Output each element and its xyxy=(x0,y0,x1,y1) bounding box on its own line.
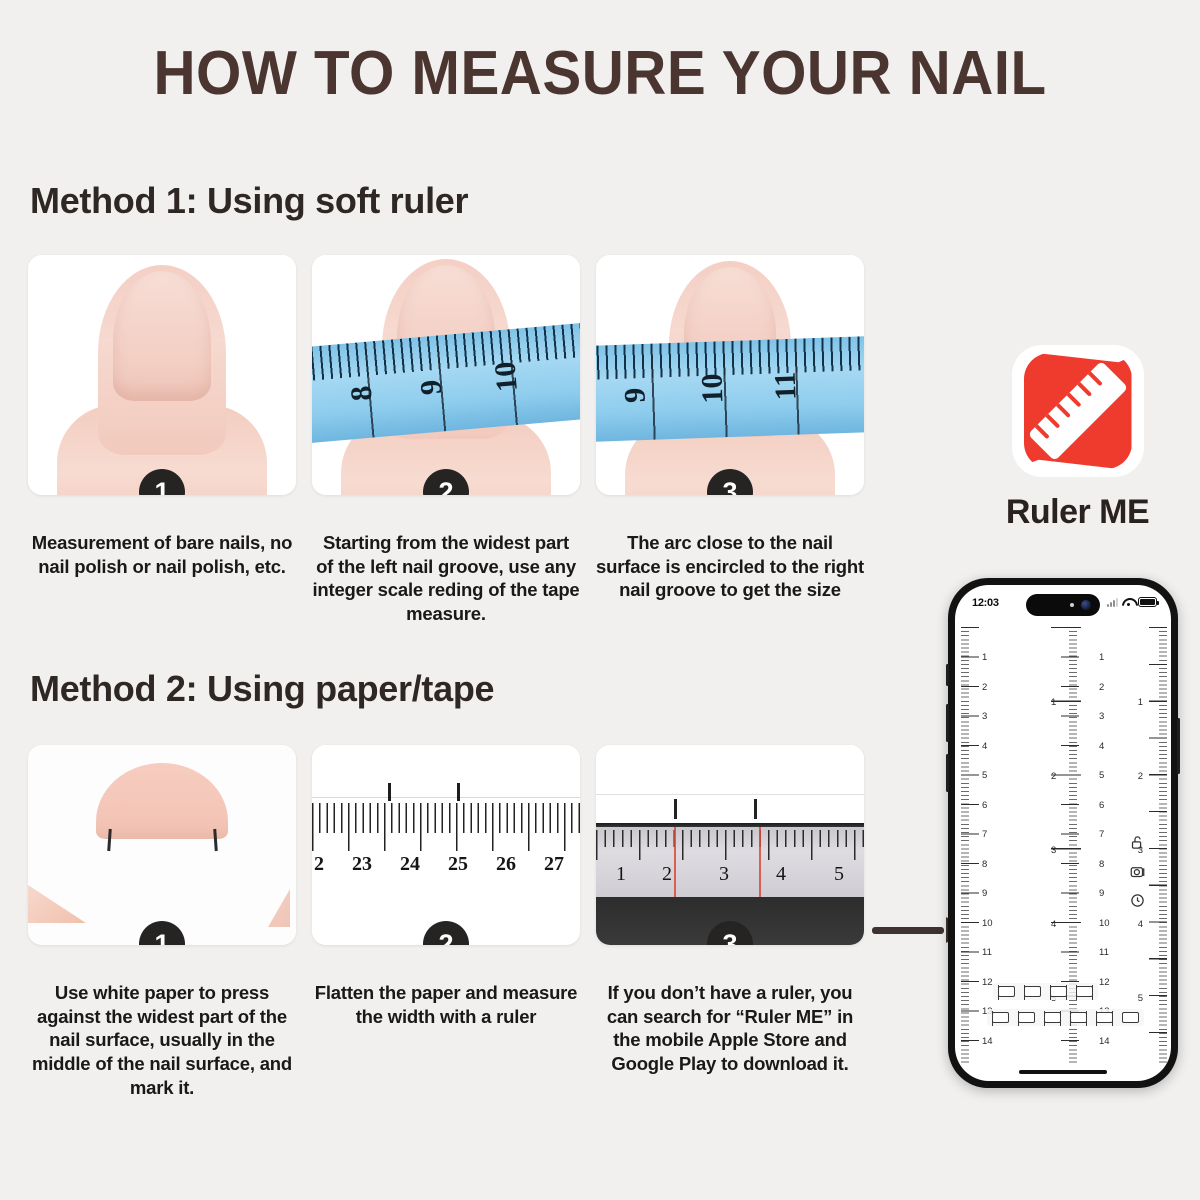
pen-mark-left xyxy=(674,799,677,819)
finger-corner-shape xyxy=(28,885,86,923)
scale-label: 12 xyxy=(982,977,993,988)
scale-label: 7 xyxy=(1099,829,1104,840)
phone-screen[interactable]: 12:03 1 2 3 4 5 6 7 8 9 10 11 xyxy=(955,585,1171,1081)
step-caption: Starting from the widest part of the lef… xyxy=(312,531,580,626)
measurement-chip-row[interactable] xyxy=(993,983,1098,1000)
ruler-labels: 2 23 24 25 26 27 xyxy=(312,853,580,879)
step-card-m1-2: 8 9 10 2 Starting from the widest part o… xyxy=(312,255,580,626)
measurement-chip-row[interactable] xyxy=(987,1009,1144,1026)
step-card-m2-1: 1 Use white paper to press against the w… xyxy=(28,745,296,1099)
phone-tool-strip xyxy=(1130,835,1145,908)
scale-label: 14 xyxy=(1099,1036,1110,1047)
scale-label: 8 xyxy=(982,859,987,870)
nail-pressed-on-paper-photo: 1 xyxy=(28,745,296,945)
measurement-chip[interactable] xyxy=(1050,986,1067,997)
scale-label: 5 xyxy=(1099,770,1104,781)
paper-illustration xyxy=(28,745,296,945)
ruler-app-icon[interactable] xyxy=(1012,345,1144,477)
ruler-label: 2 xyxy=(314,853,324,876)
paper-strip xyxy=(596,745,864,795)
measurement-chip[interactable] xyxy=(1018,1012,1035,1023)
status-bar-icons xyxy=(1107,597,1157,607)
step-caption: Measurement of bare nails, no nail polis… xyxy=(28,531,296,578)
paper-ruler-illustration: 2 23 24 25 26 27 xyxy=(312,745,580,945)
scale-label: 2 xyxy=(1099,682,1104,693)
ruler-label: 4 xyxy=(776,863,786,886)
arrow-shaft xyxy=(872,927,944,934)
pen-mark-right xyxy=(754,799,757,819)
scale-label: 7 xyxy=(982,829,987,840)
battery-icon xyxy=(1138,597,1157,607)
scale-label: 11 xyxy=(982,947,992,958)
ruler-label: 25 xyxy=(448,853,468,876)
tape-number: 10 xyxy=(488,360,524,393)
scale-label: 12 xyxy=(1099,977,1110,988)
metal-ruler-photo: 1 2 3 4 5 3 xyxy=(596,745,864,945)
scale-label-inch: 4 xyxy=(1051,919,1056,930)
scale-label: 1 xyxy=(1099,652,1104,663)
measurement-chip[interactable] xyxy=(992,1012,1009,1023)
measurement-chip[interactable] xyxy=(1096,1012,1113,1023)
measurement-chip[interactable] xyxy=(1122,1012,1139,1023)
scale-label: 14 xyxy=(982,1036,993,1047)
scale-label: 9 xyxy=(982,888,987,899)
scale-label: 1 xyxy=(1138,697,1143,708)
camera-icon[interactable] xyxy=(1130,864,1145,879)
scale-label: 6 xyxy=(982,800,987,811)
method-2-heading: Method 2: Using paper/tape xyxy=(30,668,494,710)
scale-major-ticks xyxy=(961,627,979,1065)
scale-label: 10 xyxy=(982,918,993,929)
tape-number: 10 xyxy=(695,373,730,404)
ruler-label: 24 xyxy=(400,853,420,876)
scale-label: 4 xyxy=(1099,741,1104,752)
step-caption: Flatten the paper and measure the width … xyxy=(312,981,580,1028)
ruler-label: 2 xyxy=(662,863,672,886)
scale-label: 3 xyxy=(1099,711,1104,722)
pen-mark-right xyxy=(457,783,460,801)
scale-label: 4 xyxy=(982,741,987,752)
blue-tape-measure: 9 10 11 xyxy=(596,336,864,442)
scale-label: 2 xyxy=(1138,771,1143,782)
front-camera-icon xyxy=(1081,600,1091,610)
nail-dome-shape xyxy=(96,763,228,839)
power-button[interactable] xyxy=(1177,718,1180,774)
step-card-m1-1: 1 Measurement of bare nails, no nail pol… xyxy=(28,255,296,578)
step-caption: Use white paper to press against the wid… xyxy=(28,981,296,1099)
poster-root: HOW TO MEASURE YOUR NAIL Method 1: Using… xyxy=(0,0,1200,1200)
ruler-major-ticks xyxy=(312,803,580,851)
dynamic-island xyxy=(1026,594,1100,616)
scale-label: 10 xyxy=(1099,918,1110,929)
method-1-heading: Method 1: Using soft ruler xyxy=(30,180,468,222)
measurement-chip[interactable] xyxy=(1076,986,1093,997)
scale-label: 1 xyxy=(982,652,987,663)
scale-label: 6 xyxy=(1099,800,1104,811)
app-promo: Ruler ME xyxy=(965,345,1190,532)
measurement-chip[interactable] xyxy=(1044,1012,1061,1023)
wifi-icon xyxy=(1122,597,1134,607)
bare-thumbnail-photo: 1 xyxy=(28,255,296,495)
ruler-label: 26 xyxy=(496,853,516,876)
scale-label: 5 xyxy=(982,770,987,781)
thumb-illustration: 9 10 11 xyxy=(596,255,864,495)
step-card-m2-3: 1 2 3 4 5 3 If you don’t have a ruler, y… xyxy=(596,745,864,1076)
metal-ruler-illustration: 1 2 3 4 5 xyxy=(596,745,864,945)
ruler-label: 1 xyxy=(616,863,626,886)
sensor-dot xyxy=(1070,603,1074,607)
scale-label: 9 xyxy=(1099,888,1104,899)
mute-switch[interactable] xyxy=(946,664,949,686)
ruler-label: 3 xyxy=(719,863,729,886)
measurement-chip[interactable] xyxy=(1024,986,1041,997)
scale-label: 2 xyxy=(982,682,987,693)
tape-number: 11 xyxy=(769,371,804,401)
app-name-label: Ruler ME xyxy=(965,493,1190,532)
scale-label: 11 xyxy=(1099,947,1109,958)
tape-number: 9 xyxy=(414,378,449,396)
paper-edge xyxy=(312,797,580,798)
step-caption: The arc close to the nail surface is enc… xyxy=(596,531,864,602)
thumb-illustration xyxy=(28,255,296,495)
volume-down-button[interactable] xyxy=(946,754,949,792)
history-icon[interactable] xyxy=(1130,893,1145,908)
scale-label-inch: 1 xyxy=(1051,697,1056,708)
status-bar-time: 12:03 xyxy=(972,597,999,609)
thumb-with-blue-tape-measure-photo: 8 9 10 2 xyxy=(312,255,580,495)
page-title: HOW TO MEASURE YOUR NAIL xyxy=(36,38,1164,109)
scale-label: 5 xyxy=(1138,993,1143,1004)
scale-label-inch: 2 xyxy=(1051,771,1056,782)
scale-label-inch: 3 xyxy=(1051,845,1056,856)
finger-corner-shape xyxy=(268,889,290,927)
tape-number: 8 xyxy=(344,384,379,402)
blue-tape-measure: 8 9 10 xyxy=(312,322,580,444)
volume-up-button[interactable] xyxy=(946,704,949,742)
paper-ruler-photo: 2 23 24 25 26 27 2 xyxy=(312,745,580,945)
scale-label: 3 xyxy=(982,711,987,722)
scale-label: 4 xyxy=(1138,919,1143,930)
pen-mark-left xyxy=(388,783,391,801)
scale-label: 8 xyxy=(1099,859,1104,870)
pen-mark-left xyxy=(107,829,112,851)
cellular-signal-icon xyxy=(1107,598,1118,607)
step-card-m2-2: 2 23 24 25 26 27 2 Flatten the paper and… xyxy=(312,745,580,1028)
step-card-m1-3: 9 10 11 3 The arc close to the nail surf… xyxy=(596,255,864,602)
measurement-chip[interactable] xyxy=(1070,1012,1087,1023)
step-caption: If you don’t have a ruler, you can searc… xyxy=(596,981,864,1076)
ruler-major-ticks xyxy=(596,830,864,860)
unlock-icon[interactable] xyxy=(1130,835,1145,850)
thumb-wrapped-blue-tape-measure-photo: 9 10 11 3 xyxy=(596,255,864,495)
scale-major-ticks xyxy=(1149,627,1167,1065)
thumb-illustration: 8 9 10 xyxy=(312,255,580,495)
phone-mockup: 12:03 1 2 3 4 5 6 7 8 9 10 11 xyxy=(948,578,1178,1088)
ruler-label: 23 xyxy=(352,853,372,876)
measurement-chip[interactable] xyxy=(998,986,1015,997)
ruler-label: 27 xyxy=(544,853,564,876)
home-indicator[interactable] xyxy=(1019,1070,1107,1074)
tape-number: 9 xyxy=(618,387,653,403)
ruler-label: 5 xyxy=(834,863,844,886)
